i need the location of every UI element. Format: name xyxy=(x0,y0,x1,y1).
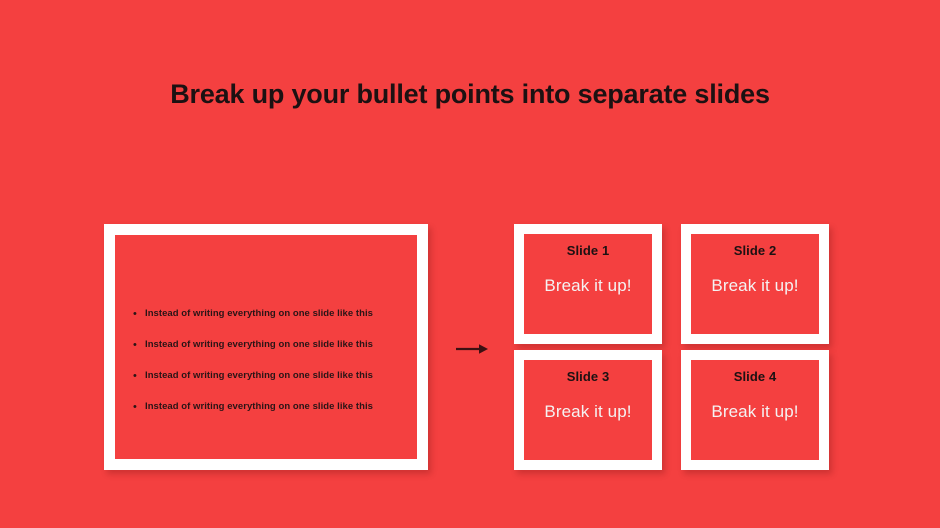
list-item: • Instead of writing everything on one s… xyxy=(133,338,407,352)
after-slide-body-4: Slide 4 Break it up! xyxy=(691,360,819,460)
bullet-text: Instead of writing everything on one sli… xyxy=(145,307,373,321)
bullet-dot-icon: • xyxy=(133,369,145,383)
after-slide-text: Break it up! xyxy=(524,402,652,422)
after-slide-heading: Slide 3 xyxy=(524,369,652,384)
bullet-text: Instead of writing everything on one sli… xyxy=(145,338,373,352)
after-slide-body-2: Slide 2 Break it up! xyxy=(691,234,819,334)
bullet-list: • Instead of writing everything on one s… xyxy=(133,307,407,431)
list-item: • Instead of writing everything on one s… xyxy=(133,369,407,383)
slide-canvas: Break up your bullet points into separat… xyxy=(0,0,940,528)
after-slide-body-3: Slide 3 Break it up! xyxy=(524,360,652,460)
after-slide-card-2[interactable]: Slide 2 Break it up! xyxy=(681,224,829,344)
before-slide-card[interactable]: • Instead of writing everything on one s… xyxy=(104,224,428,470)
after-slide-card-4[interactable]: Slide 4 Break it up! xyxy=(681,350,829,470)
after-slide-text: Break it up! xyxy=(691,276,819,296)
list-item: • Instead of writing everything on one s… xyxy=(133,307,407,321)
after-slide-card-1[interactable]: Slide 1 Break it up! xyxy=(514,224,662,344)
after-slide-heading: Slide 1 xyxy=(524,243,652,258)
bullet-text: Instead of writing everything on one sli… xyxy=(145,400,373,414)
after-slide-heading: Slide 2 xyxy=(691,243,819,258)
after-slide-card-3[interactable]: Slide 3 Break it up! xyxy=(514,350,662,470)
after-slides-grid: Slide 1 Break it up! Slide 2 Break it up… xyxy=(514,224,829,470)
bullet-dot-icon: • xyxy=(133,400,145,414)
list-item: • Instead of writing everything on one s… xyxy=(133,400,407,414)
arrow-right-icon xyxy=(455,338,489,360)
before-slide-body: • Instead of writing everything on one s… xyxy=(115,235,417,459)
bullet-dot-icon: • xyxy=(133,338,145,352)
bullet-text: Instead of writing everything on one sli… xyxy=(145,369,373,383)
after-slide-body-1: Slide 1 Break it up! xyxy=(524,234,652,334)
bullet-dot-icon: • xyxy=(133,307,145,321)
page-title: Break up your bullet points into separat… xyxy=(0,78,940,110)
after-slide-text: Break it up! xyxy=(691,402,819,422)
after-slide-heading: Slide 4 xyxy=(691,369,819,384)
after-slide-text: Break it up! xyxy=(524,276,652,296)
